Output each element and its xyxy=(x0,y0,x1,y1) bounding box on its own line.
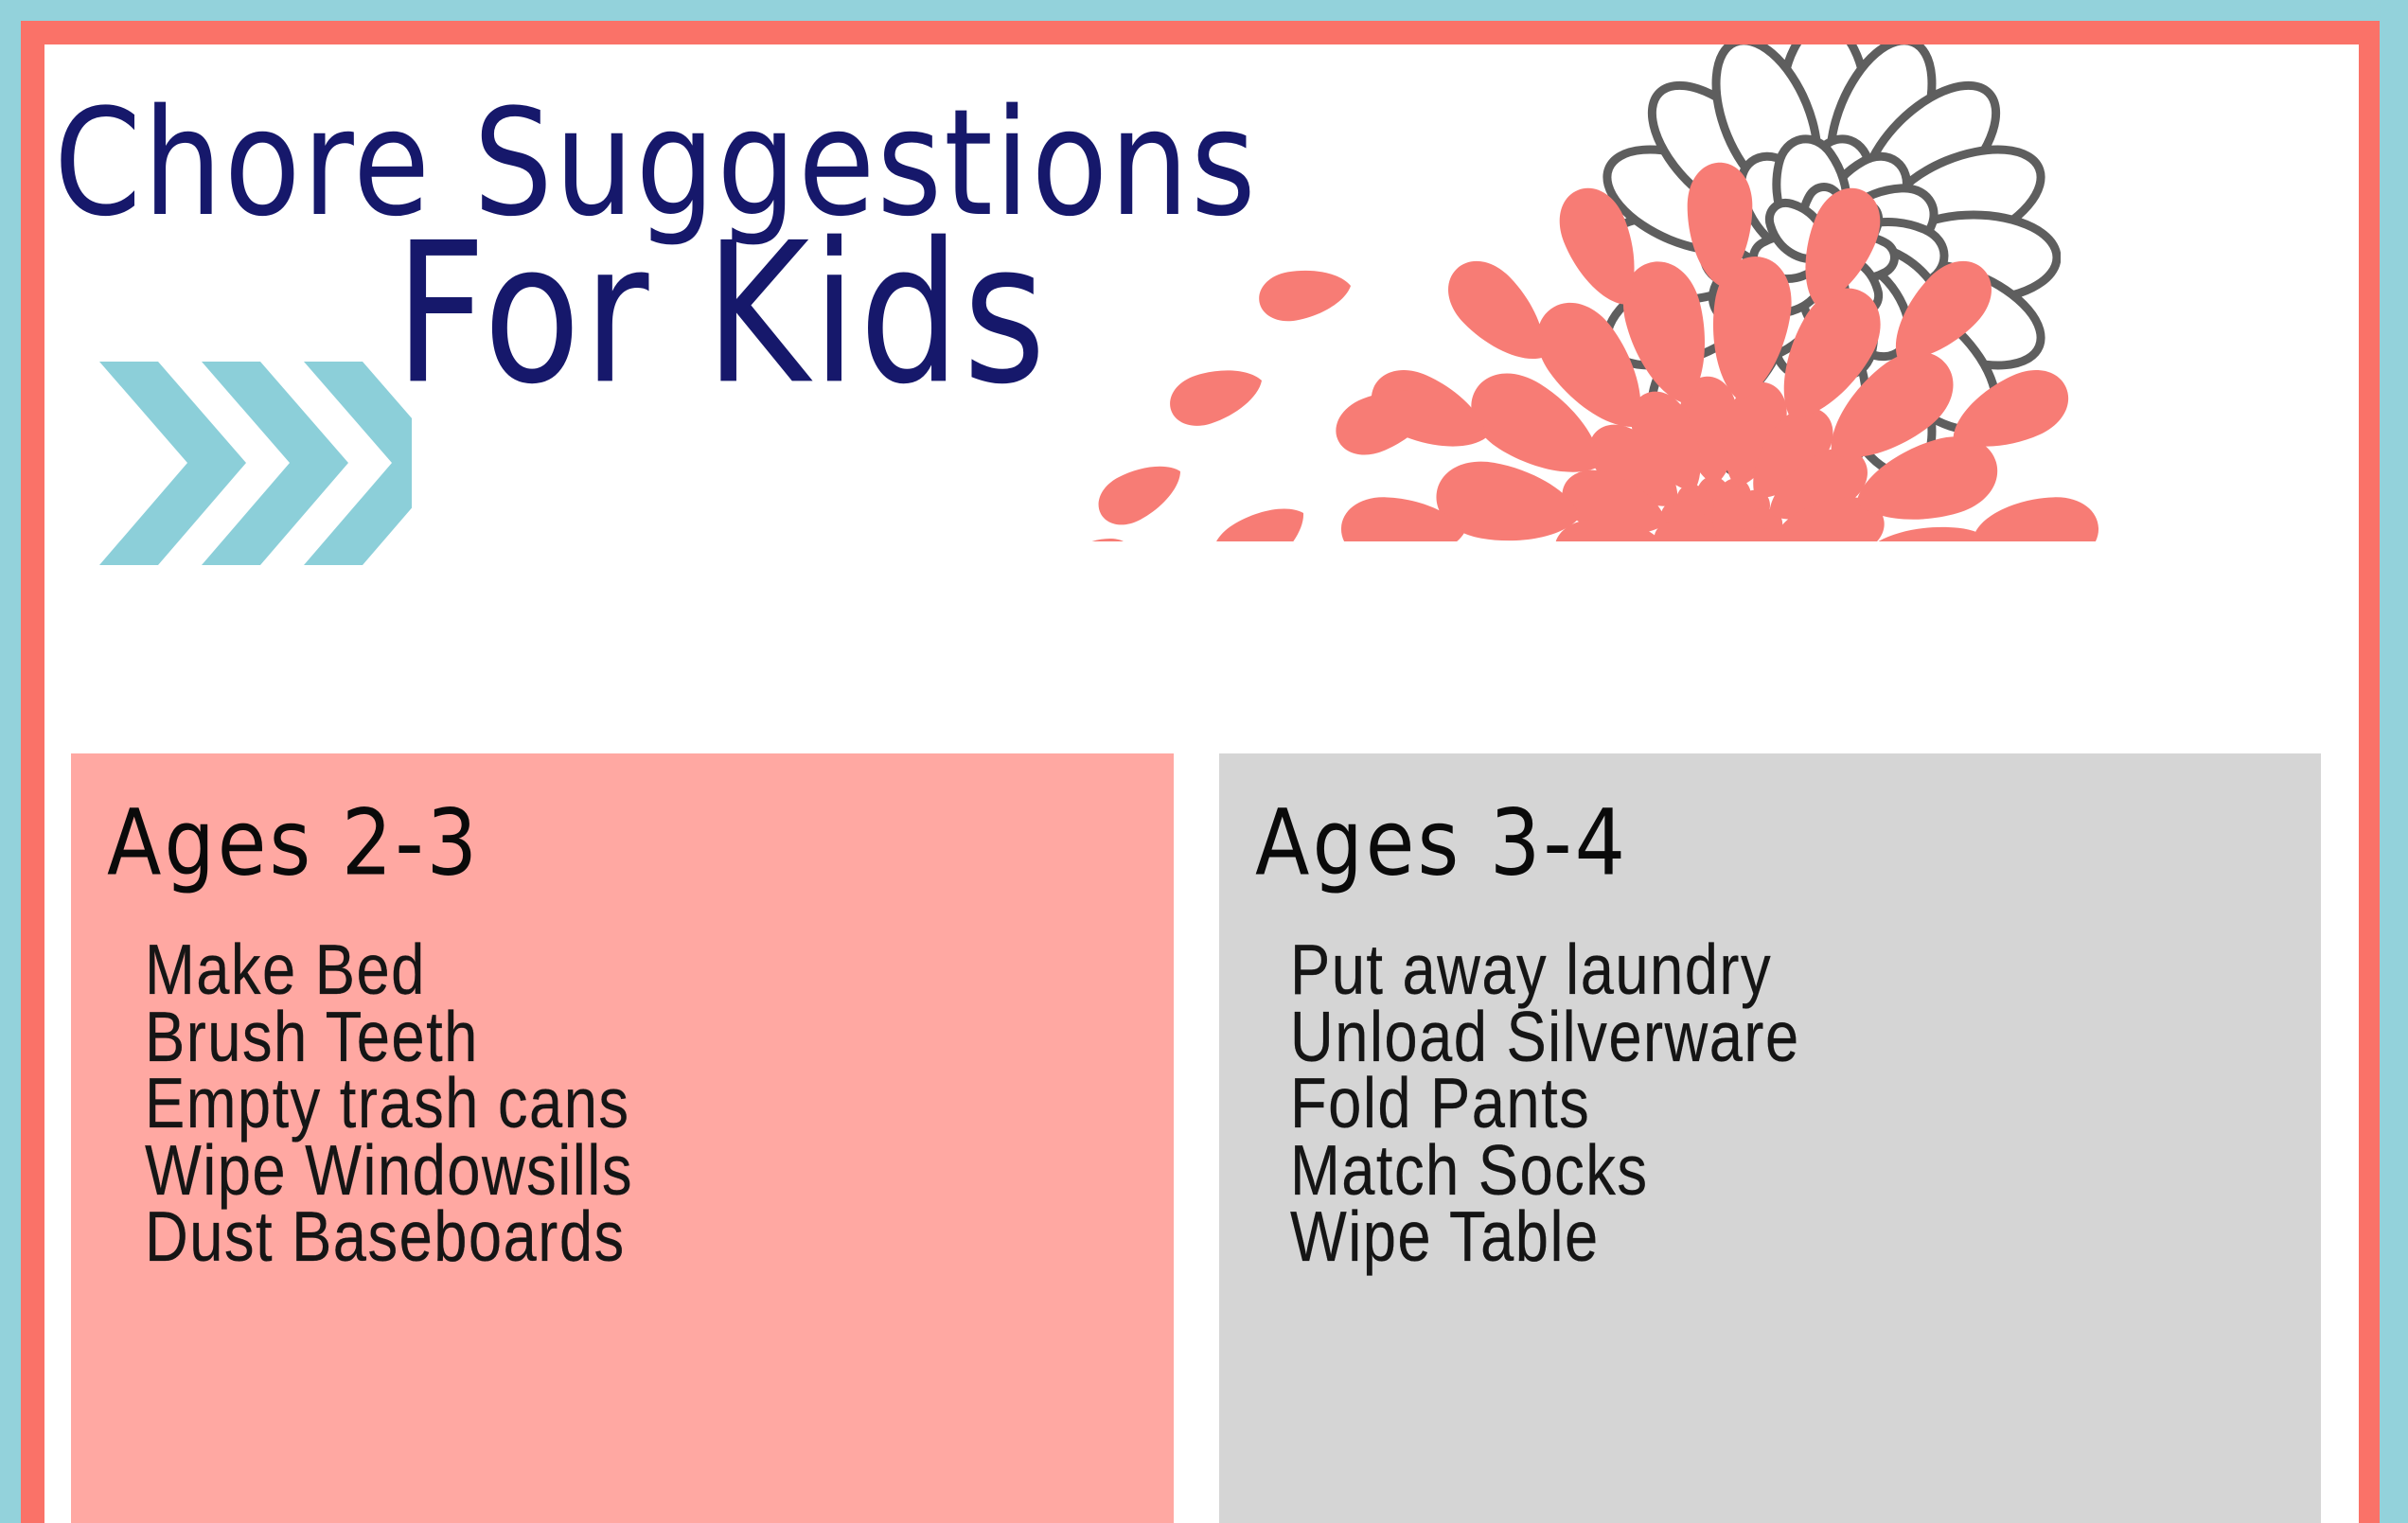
chore-list-ages-3-4: Put away laundry Unload Silverware Fold … xyxy=(1290,931,1821,1266)
title-line-for-kids: For Kids xyxy=(395,201,1049,427)
panel-heading-ages-3-4: Ages 3-4 xyxy=(1255,789,1628,896)
chevron-arrows-decoration xyxy=(99,362,412,565)
chevron-right-icon xyxy=(99,362,412,565)
poster-canvas: Chore Suggestions For Kids xyxy=(44,44,2359,1523)
list-item: Dust Baseboards xyxy=(145,1198,633,1274)
age-panels-container: Ages 2-3 Make Bed Brush Teeth Empty tras… xyxy=(71,753,2359,1523)
coral-petals xyxy=(1067,163,2099,541)
panel-ages-2-3: Ages 2-3 Make Bed Brush Teeth Empty tras… xyxy=(71,753,1174,1523)
coral-petal-burst-flower-icon xyxy=(1067,97,2359,541)
panel-ages-3-4: Ages 3-4 Put away laundry Unload Silverw… xyxy=(1219,753,2321,1523)
poster-root: Chore Suggestions For Kids xyxy=(0,0,2408,1523)
panel-heading-ages-2-3: Ages 2-3 xyxy=(107,789,480,896)
chore-list-ages-2-3: Make Bed Brush Teeth Empty trash cans Wi… xyxy=(145,931,653,1266)
list-item: Wipe Table xyxy=(1290,1198,1800,1274)
